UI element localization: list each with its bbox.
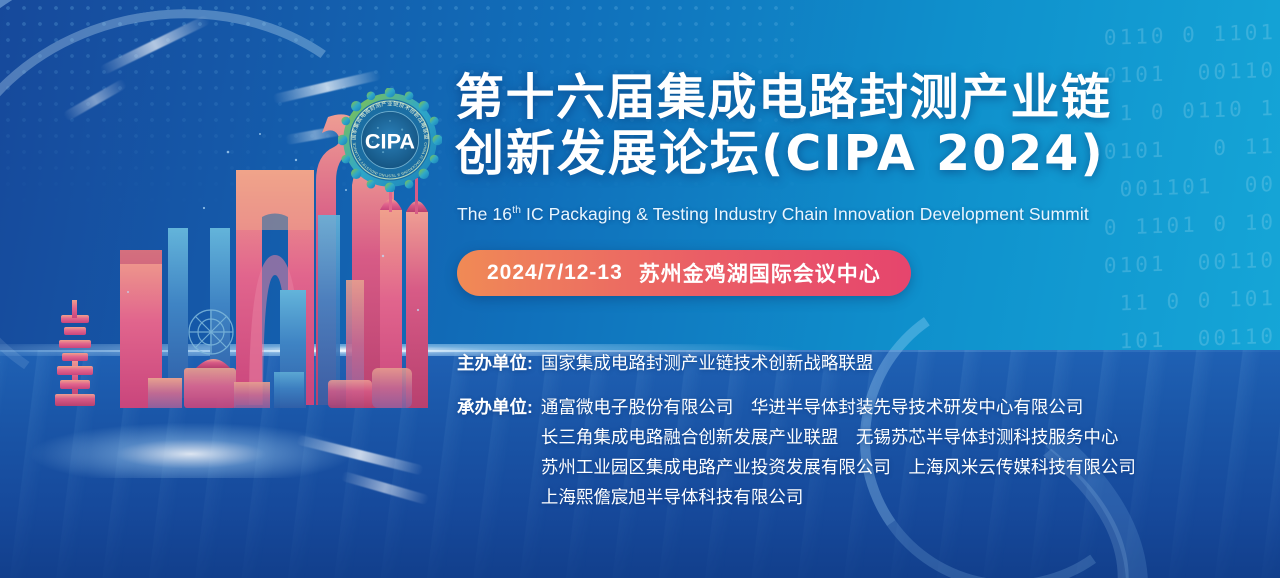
subtitle-prefix: The 16: [457, 204, 512, 224]
light-streak-icon: [340, 471, 429, 505]
coorganizer-line: 苏州工业园区集成电路产业投资发展有限公司 上海风米云传媒科技有限公司: [541, 452, 1185, 482]
event-venue: 苏州金鸡湖国际会议中心: [639, 258, 881, 288]
banner-content: 第十六届集成电路封测产业链 创新发展论坛(CIPA 2024) The 16th…: [455, 70, 1185, 512]
subtitle-english: The 16th IC Packaging & Testing Industry…: [457, 198, 1185, 226]
title-line-2: 创新发展论坛(CIPA 2024): [455, 126, 1185, 182]
event-date: 2024/7/12-13: [487, 261, 623, 285]
coorganizer-line: 上海熙儋宸旭半导体科技有限公司: [541, 482, 1185, 512]
coorganizer-line: 长三角集成电路融合创新发展产业联盟 无锡苏芯半导体封测科技服务中心: [541, 422, 1185, 452]
coorganizer-label: 承办单位:: [457, 392, 533, 422]
conference-banner: 0110 0 1101 0101 00110 1 0 0110 1 00101 …: [0, 0, 1280, 578]
subtitle-ordinal: th: [512, 204, 521, 216]
cipa-logo-badge: 国家集成电路封测产业链技术创新战略联盟 CHINA IC PACKAGING &…: [338, 88, 442, 192]
badge-acronym-text: CIPA: [365, 129, 415, 154]
coorganizer-row: 承办单位: 通富微电子股份有限公司 华进半导体封装先导技术研发中心有限公司 长三…: [457, 392, 1185, 512]
ferris-wheel: [189, 310, 233, 354]
coorganizer-values: 通富微电子股份有限公司 华进半导体封装先导技术研发中心有限公司 长三角集成电路融…: [541, 392, 1185, 512]
host-value: 国家集成电路封测产业链技术创新战略联盟: [541, 348, 1185, 378]
host-label: 主办单位:: [457, 348, 533, 378]
page-title: 第十六届集成电路封测产业链 创新发展论坛(CIPA 2024): [455, 70, 1185, 182]
subtitle-rest: IC Packaging & Testing Industry Chain In…: [521, 204, 1089, 224]
pagoda-building: [55, 300, 95, 406]
event-date-venue-badge: 2024/7/12-13 苏州金鸡湖国际会议中心: [457, 250, 911, 296]
coorganizer-line: 通富微电子股份有限公司 华进半导体封装先导技术研发中心有限公司: [541, 392, 1185, 422]
title-line-1: 第十六届集成电路封测产业链: [455, 69, 1112, 126]
host-organizer-row: 主办单位: 国家集成电路封测产业链技术创新战略联盟: [457, 348, 1185, 378]
organizers-block: 主办单位: 国家集成电路封测产业链技术创新战略联盟 承办单位: 通富微电子股份有…: [457, 348, 1185, 512]
